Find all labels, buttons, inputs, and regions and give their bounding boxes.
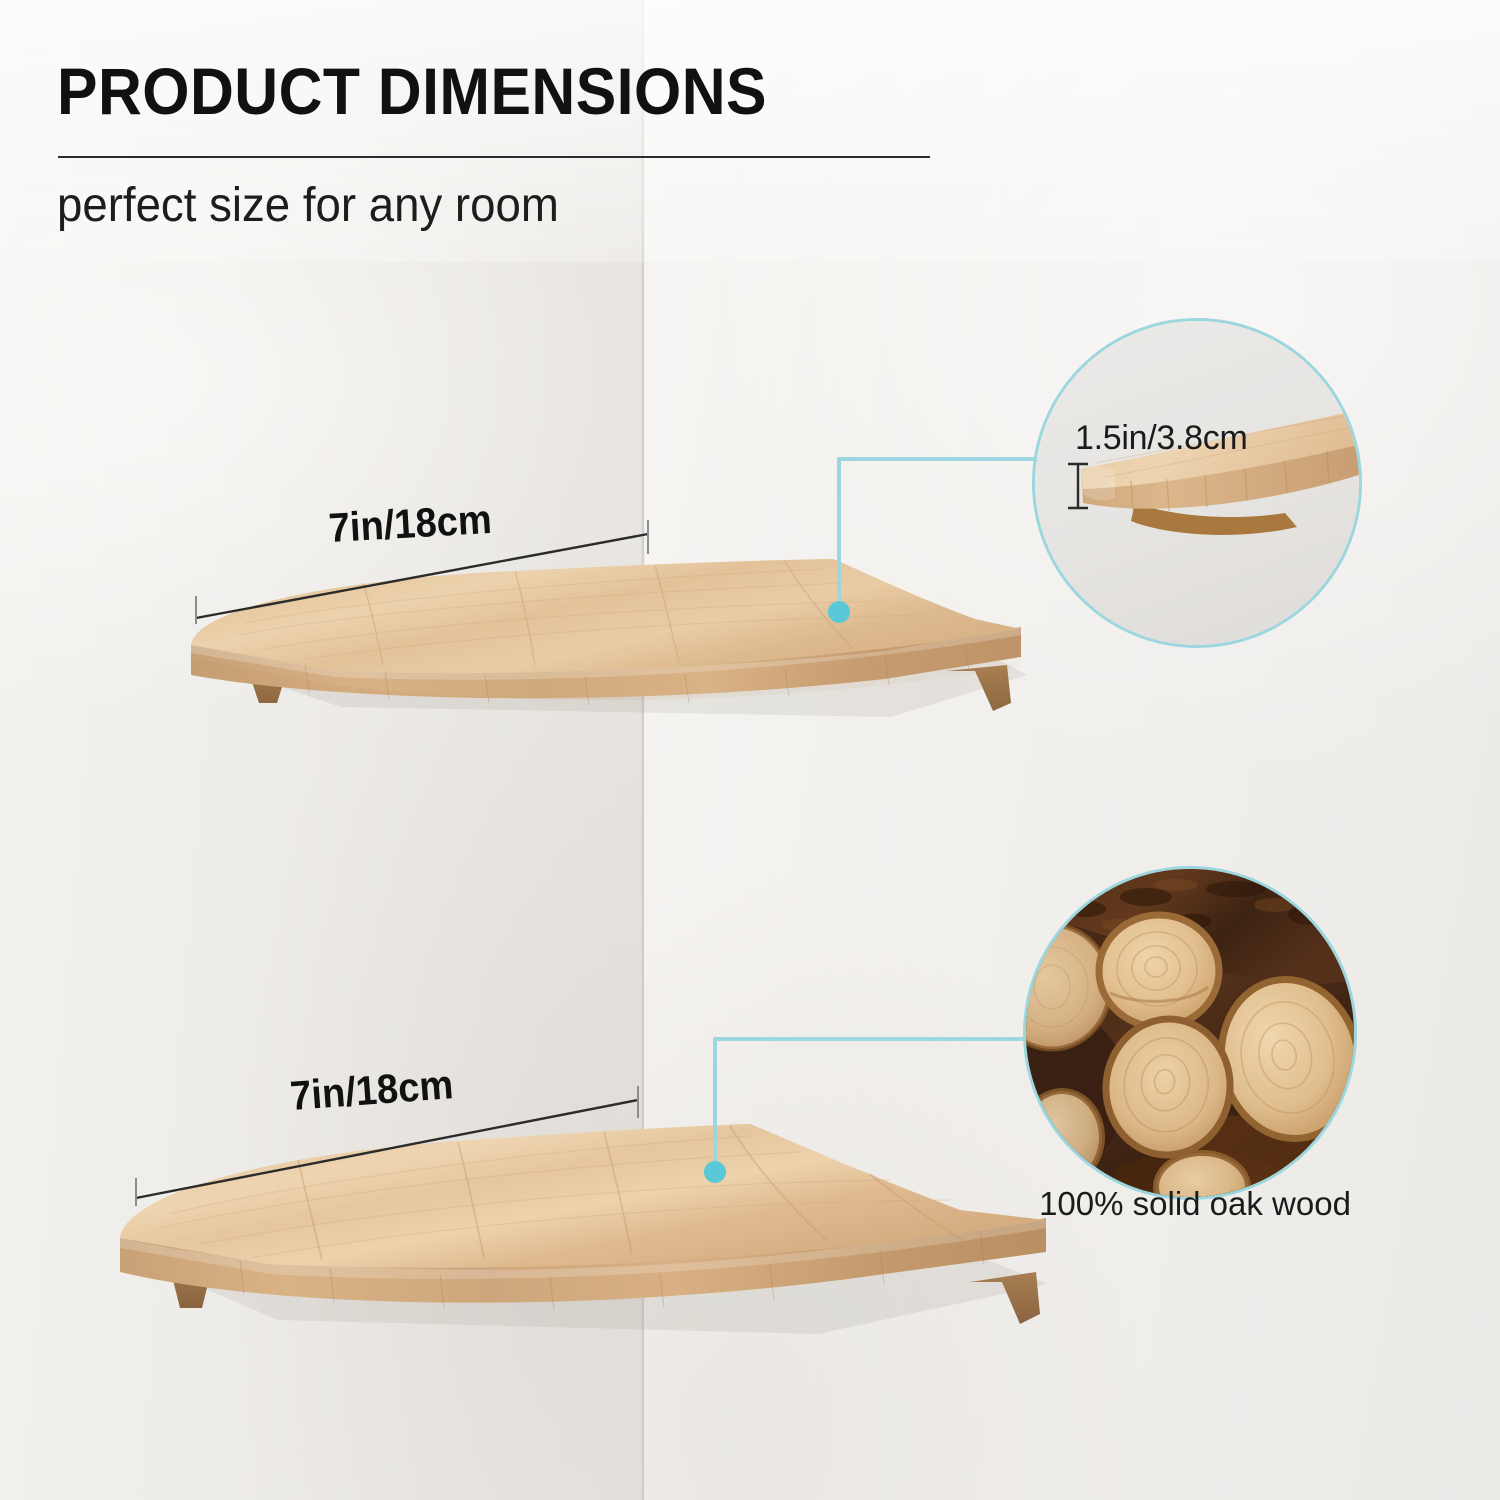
page-title: PRODUCT DIMENSIONS	[57, 53, 767, 129]
material-caption: 100% solid oak wood	[1035, 1185, 1355, 1223]
product-infographic: PRODUCT DIMENSIONS perfect size for any …	[0, 0, 1500, 1500]
dimension-label-top-shelf-width: 7in/18cm	[327, 496, 493, 552]
thickness-ibeam-icon	[1064, 461, 1092, 511]
inset-material-detail	[1023, 866, 1357, 1200]
title-divider	[58, 156, 930, 158]
page-subtitle: perfect size for any room	[57, 178, 559, 233]
thickness-label: 1.5in/3.8cm	[1075, 419, 1247, 458]
inset-thickness-detail: 1.5in/3.8cm	[1032, 318, 1362, 648]
